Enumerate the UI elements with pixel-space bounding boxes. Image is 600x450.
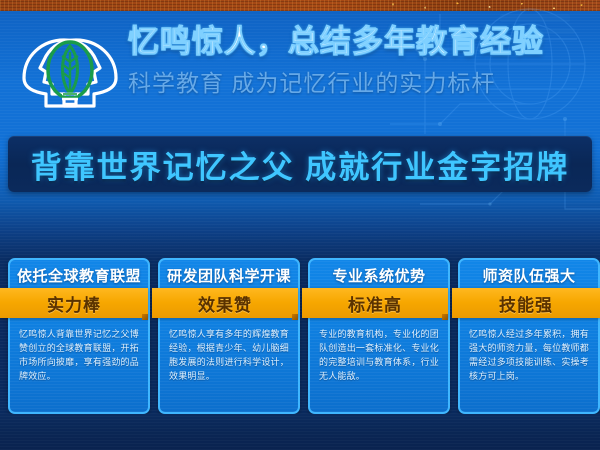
slogan-ribbon: 背靠世界记忆之父 成就行业金字招牌 — [8, 136, 592, 192]
header: 忆鸣惊人，总结多年教育经验 科学教育 成为记忆行业的实力标杆 — [0, 18, 600, 118]
badge-label: 效果赞 — [198, 291, 252, 316]
card-body: 忆鸣惊人享有多年的辉煌教育经验，根据青少年、幼儿脑细胞发展的法则进行科学设计，效… — [169, 327, 289, 383]
card-title: 专业系统优势 — [310, 265, 448, 286]
badge-band[interactable]: 实力棒 — [0, 288, 148, 318]
footer-area — [0, 414, 600, 450]
badge-label: 实力棒 — [47, 291, 101, 316]
band-notch-decoration — [142, 314, 148, 320]
slogan-text: 背靠世界记忆之父 成就行业金字招牌 — [31, 142, 570, 187]
card-title: 研发团队科学开课 — [160, 265, 298, 286]
feature-card[interactable]: 依托全球教育联盟 忆鸣惊人背靠世界记忆之父博赞创立的全球教育联盟，开拓市场所向披… — [8, 258, 150, 414]
band-notch-decoration — [442, 314, 448, 320]
header-text-group: 忆鸣惊人，总结多年教育经验 科学教育 成为记忆行业的实力标杆 — [128, 22, 588, 98]
top-accent-strip — [0, 0, 600, 11]
feature-card-list: 依托全球教育联盟 忆鸣惊人背靠世界记忆之父博赞创立的全球教育联盟，开拓市场所向披… — [0, 258, 600, 414]
banner-stage: 忆鸣惊人，总结多年教育经验 科学教育 成为记忆行业的实力标杆 背靠世界记忆之父 … — [0, 0, 600, 450]
feature-card[interactable]: 专业系统优势 专业的教育机构，专业化的团队创造出一套标准化、专业化的完整培训与教… — [308, 258, 450, 414]
badge-band[interactable]: 效果赞 — [152, 288, 298, 318]
badge-label: 标准高 — [348, 291, 402, 316]
strip-sparkle-decoration — [370, 0, 600, 11]
card-title: 依托全球教育联盟 — [10, 265, 148, 286]
badge-band[interactable]: 标准高 — [302, 288, 448, 318]
card-body: 忆鸣惊人背靠世界记忆之父博赞创立的全球教育联盟，开拓市场所向披靡，享有强劲的品牌… — [19, 327, 139, 383]
headline: 忆鸣惊人，总结多年教育经验 — [128, 22, 588, 62]
feature-card[interactable]: 师资队伍强大 忆鸣惊人经过多年累积，拥有强大的师资力量，每位教师都需经过多项技能… — [458, 258, 600, 414]
badge-band-list: 实力棒 效果赞 标准高 技能强 — [0, 288, 600, 318]
brain-head-lightbulb-logo — [16, 28, 124, 120]
badge-band[interactable]: 技能强 — [452, 288, 600, 318]
subheadline: 科学教育 成为记忆行业的实力标杆 — [128, 68, 588, 98]
card-body: 忆鸣惊人经过多年累积，拥有强大的师资力量，每位教师都需经过多项技能训练、实操考核… — [469, 327, 589, 383]
band-notch-decoration — [292, 314, 298, 320]
badge-label: 技能强 — [499, 291, 553, 316]
card-title: 师资队伍强大 — [460, 265, 598, 286]
card-body: 专业的教育机构，专业化的团队创造出一套标准化、专业化的完整培训与教育体系，行业无… — [319, 327, 439, 383]
feature-card[interactable]: 研发团队科学开课 忆鸣惊人享有多年的辉煌教育经验，根据青少年、幼儿脑细胞发展的法… — [158, 258, 300, 414]
